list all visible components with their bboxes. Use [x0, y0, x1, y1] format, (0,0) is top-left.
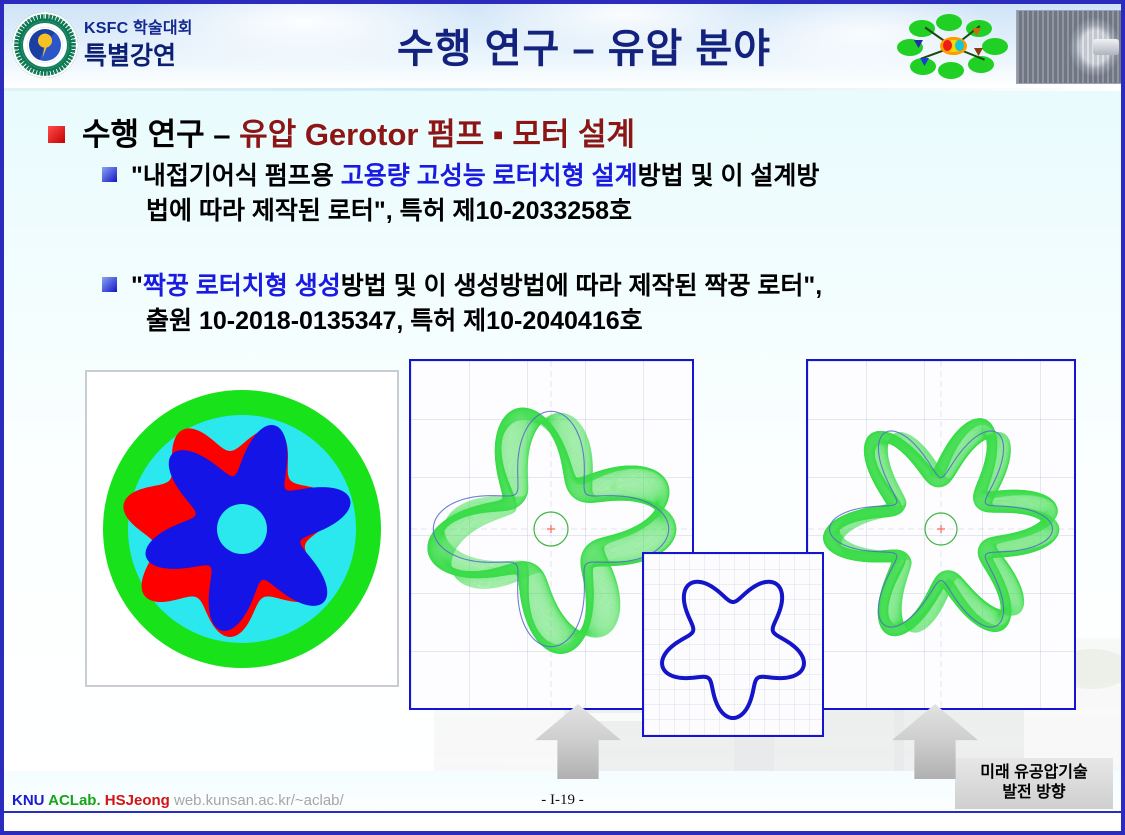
slide: KSFC 학술대회 특별강연 수행 연구 – 유압 분야: [0, 0, 1125, 835]
gerotor-pump-cross-section: [85, 370, 399, 687]
slide-body: 수행 연구 – 유압 Gerotor 펌프 ▪ 모터 설계 "내접기어식 펌프용…: [4, 91, 1121, 779]
corner-line1: 미래 유공압기술: [955, 763, 1113, 783]
footer-strip: [4, 815, 1121, 831]
figure-group: [4, 91, 1121, 779]
corner-topic-box: 미래 유공압기술 발전 방향: [955, 758, 1113, 809]
ksfc-emblem-icon: [12, 12, 78, 78]
slide-footer: KNU ACLab. HSJeong web.kunsan.ac.kr/~acl…: [4, 771, 1121, 831]
arrow-up-left-icon: [535, 704, 621, 779]
org-name-line1: KSFC 학술대회: [84, 14, 193, 38]
footer-divider: [4, 811, 1121, 813]
corner-line2: 발전 방향: [955, 783, 1113, 803]
page-number: - I-19 -: [4, 792, 1121, 809]
arrow-up-right-icon: [892, 704, 978, 779]
rotor-tooth-profile-curve: [642, 552, 824, 737]
inner-rotor-envelope-plot: [806, 359, 1076, 710]
flower-diagram-icon: [896, 12, 1011, 80]
slide-header: KSFC 학술대회 특별강연 수행 연구 – 유압 분야: [4, 4, 1121, 88]
page-title: 수행 연구 – 유압 분야: [304, 16, 864, 74]
org-name-line2: 특별강연: [84, 36, 176, 72]
hydraulic-pump-photo: [1016, 10, 1122, 84]
